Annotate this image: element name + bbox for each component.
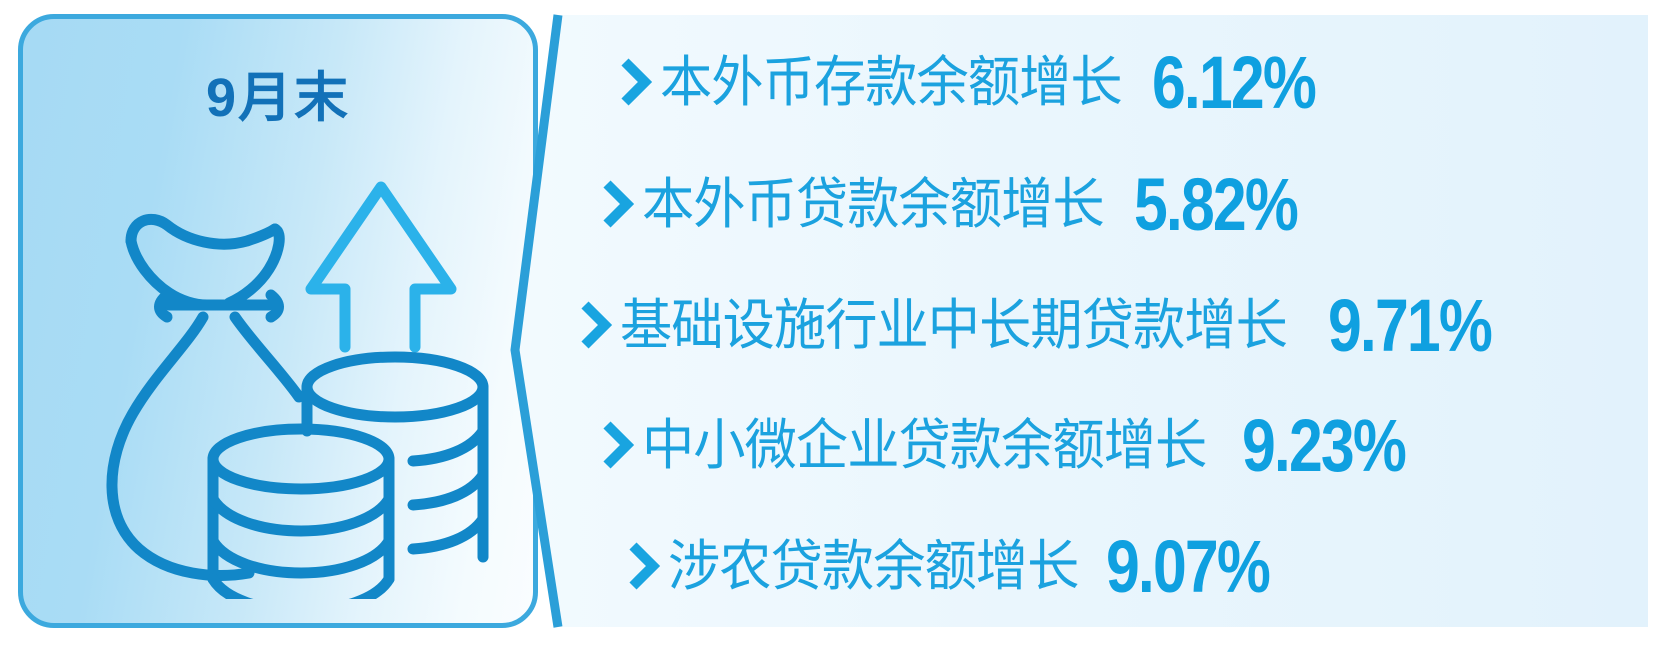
left-summary-panel: 9月末 <box>18 14 538 628</box>
up-arrow-icon <box>311 187 451 347</box>
chevron-right-icon <box>626 540 660 592</box>
list-item[interactable]: 本外币贷款余额增长 5.82% <box>600 144 1311 264</box>
chevron-right-icon <box>600 419 634 471</box>
chevron-right-icon <box>578 299 612 351</box>
metric-value: 9.71% <box>1328 288 1491 362</box>
metric-label: 中小微企业贷款余额增长 <box>642 418 1206 473</box>
finance-illustration <box>83 169 503 599</box>
metric-label: 本外币存款余额增长 <box>660 55 1122 110</box>
metric-value: 5.82% <box>1134 167 1297 241</box>
list-item[interactable]: 基础设施行业中长期贷款增长 9.71% <box>578 265 1505 385</box>
list-item[interactable]: 涉农贷款余额增长 9.07% <box>626 506 1283 626</box>
list-item[interactable]: 本外币存款余额增长 6.12% <box>618 22 1329 142</box>
metric-label: 本外币贷款余额增长 <box>642 177 1104 232</box>
right-metrics-panel: 本外币存款余额增长 6.12% 本外币贷款余额增长 5.82% <box>500 0 1660 652</box>
metric-value: 9.07% <box>1106 529 1269 603</box>
infographic-root: 9月末 <box>0 0 1660 652</box>
money-bag-icon <box>112 219 299 575</box>
list-item[interactable]: 中小微企业贷款余额增长 9.23% <box>600 385 1419 505</box>
metric-value: 6.12% <box>1152 45 1315 119</box>
chevron-right-icon <box>618 56 652 108</box>
metrics-row-list: 本外币存款余额增长 6.12% 本外币贷款余额增长 5.82% <box>500 0 1660 652</box>
page-title: 9月末 <box>23 71 533 125</box>
metric-label: 涉农贷款余额增长 <box>668 539 1078 594</box>
metric-label: 基础设施行业中长期贷款增长 <box>620 298 1287 353</box>
chevron-right-icon <box>600 178 634 230</box>
metric-value: 9.23% <box>1242 408 1405 482</box>
